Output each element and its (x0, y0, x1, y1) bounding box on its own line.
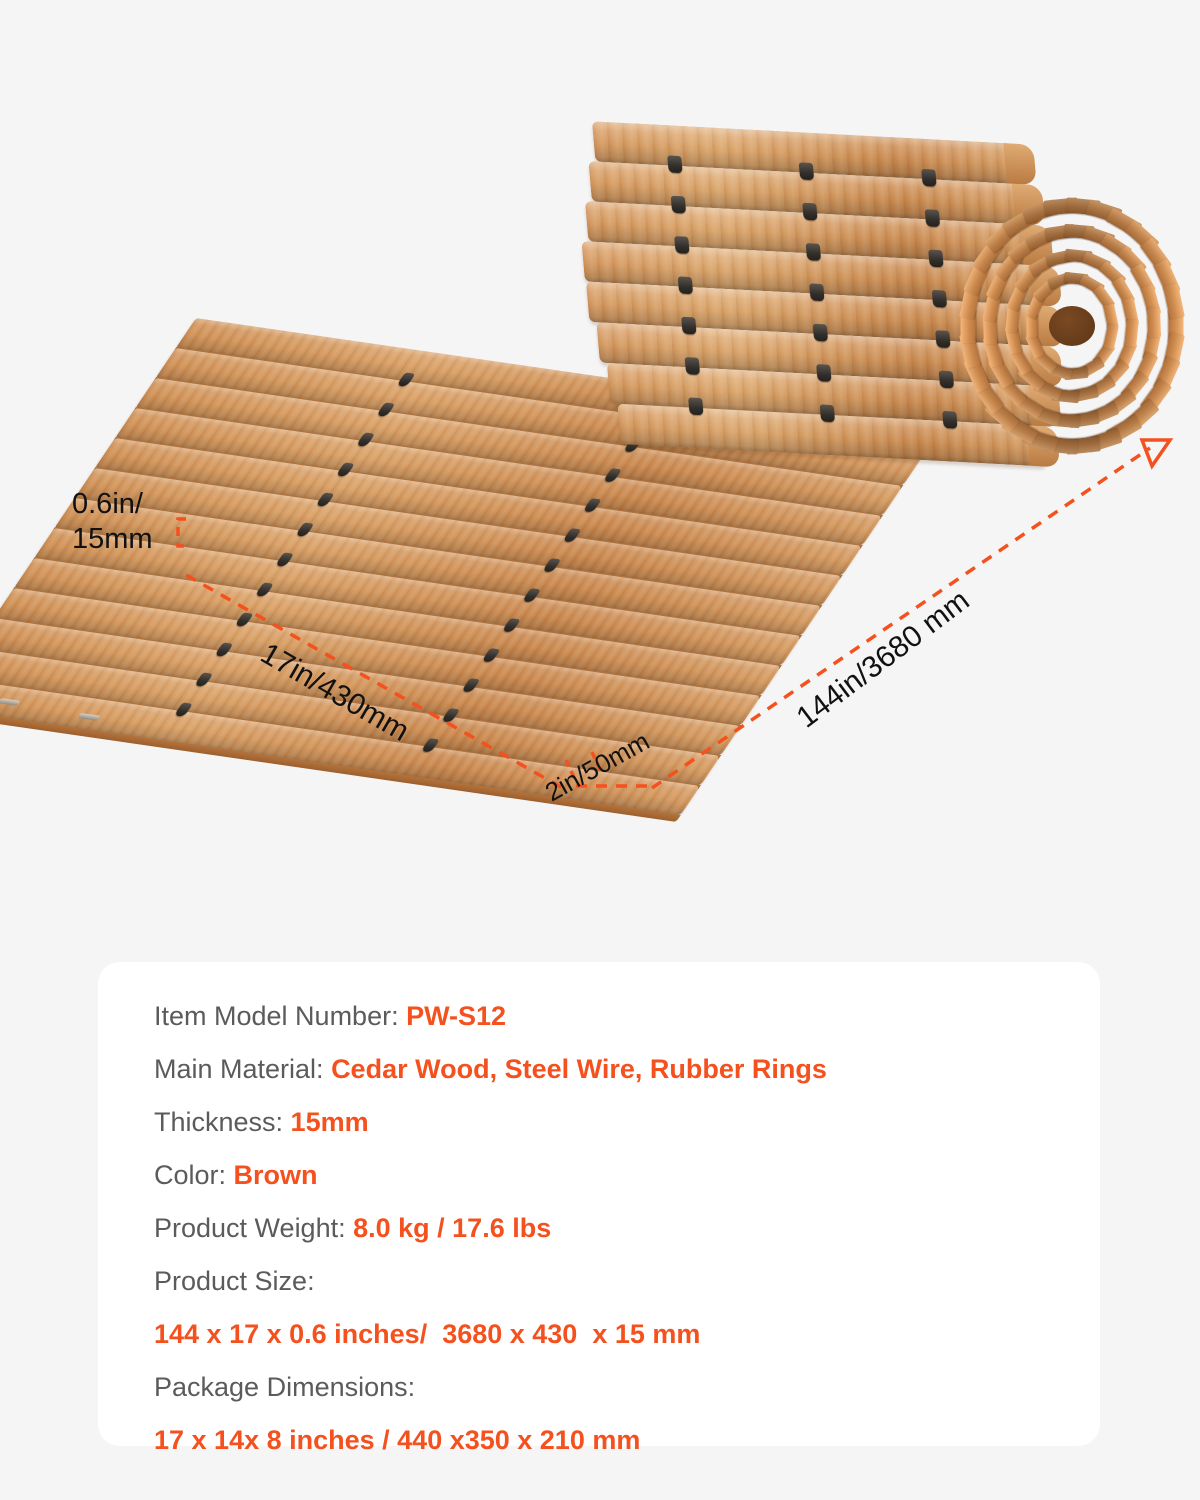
spec-row: Main Material: Cedar Wood, Steel Wire, R… (154, 1043, 1044, 1096)
slat-width-dimension-label: 2in/50mm (540, 726, 655, 809)
spec-label: Product Weight: (154, 1213, 353, 1243)
spec-value: 144 x 17 x 0.6 inches/ 3680 x 430 x 15 m… (154, 1308, 1044, 1361)
spec-label: Package Dimensions: (154, 1361, 1044, 1414)
spec-value: 8.0 kg / 17.6 lbs (353, 1213, 551, 1243)
spec-label: Color: (154, 1160, 234, 1190)
width-dimension-label: 17in/430mm (254, 636, 415, 750)
spec-row: Thickness: 15mm (154, 1096, 1044, 1149)
spec-value: PW-S12 (406, 1001, 506, 1031)
spec-label: Main Material: (154, 1054, 331, 1084)
spec-label: Product Size: (154, 1255, 1044, 1308)
spec-value: 17 x 14x 8 inches / 440 x350 x 210 mm (154, 1414, 1044, 1467)
spec-label: Item Model Number: (154, 1001, 406, 1031)
thickness-dimension-label: 0.6in/ 15mm (72, 487, 153, 558)
spec-row: Item Model Number: PW-S12 (154, 990, 1044, 1043)
spec-row: Color: Brown (154, 1149, 1044, 1202)
spec-value: 15mm (291, 1107, 369, 1137)
spec-row: Product Weight: 8.0 kg / 17.6 lbs (154, 1202, 1044, 1255)
spec-label: Thickness: (154, 1107, 291, 1137)
spec-value: Cedar Wood, Steel Wire, Rubber Rings (331, 1054, 827, 1084)
length-dimension-label: 144in/3680 mm (790, 583, 977, 737)
spec-value: Brown (234, 1160, 318, 1190)
specification-card: Item Model Number: PW-S12Main Material: … (98, 962, 1100, 1446)
